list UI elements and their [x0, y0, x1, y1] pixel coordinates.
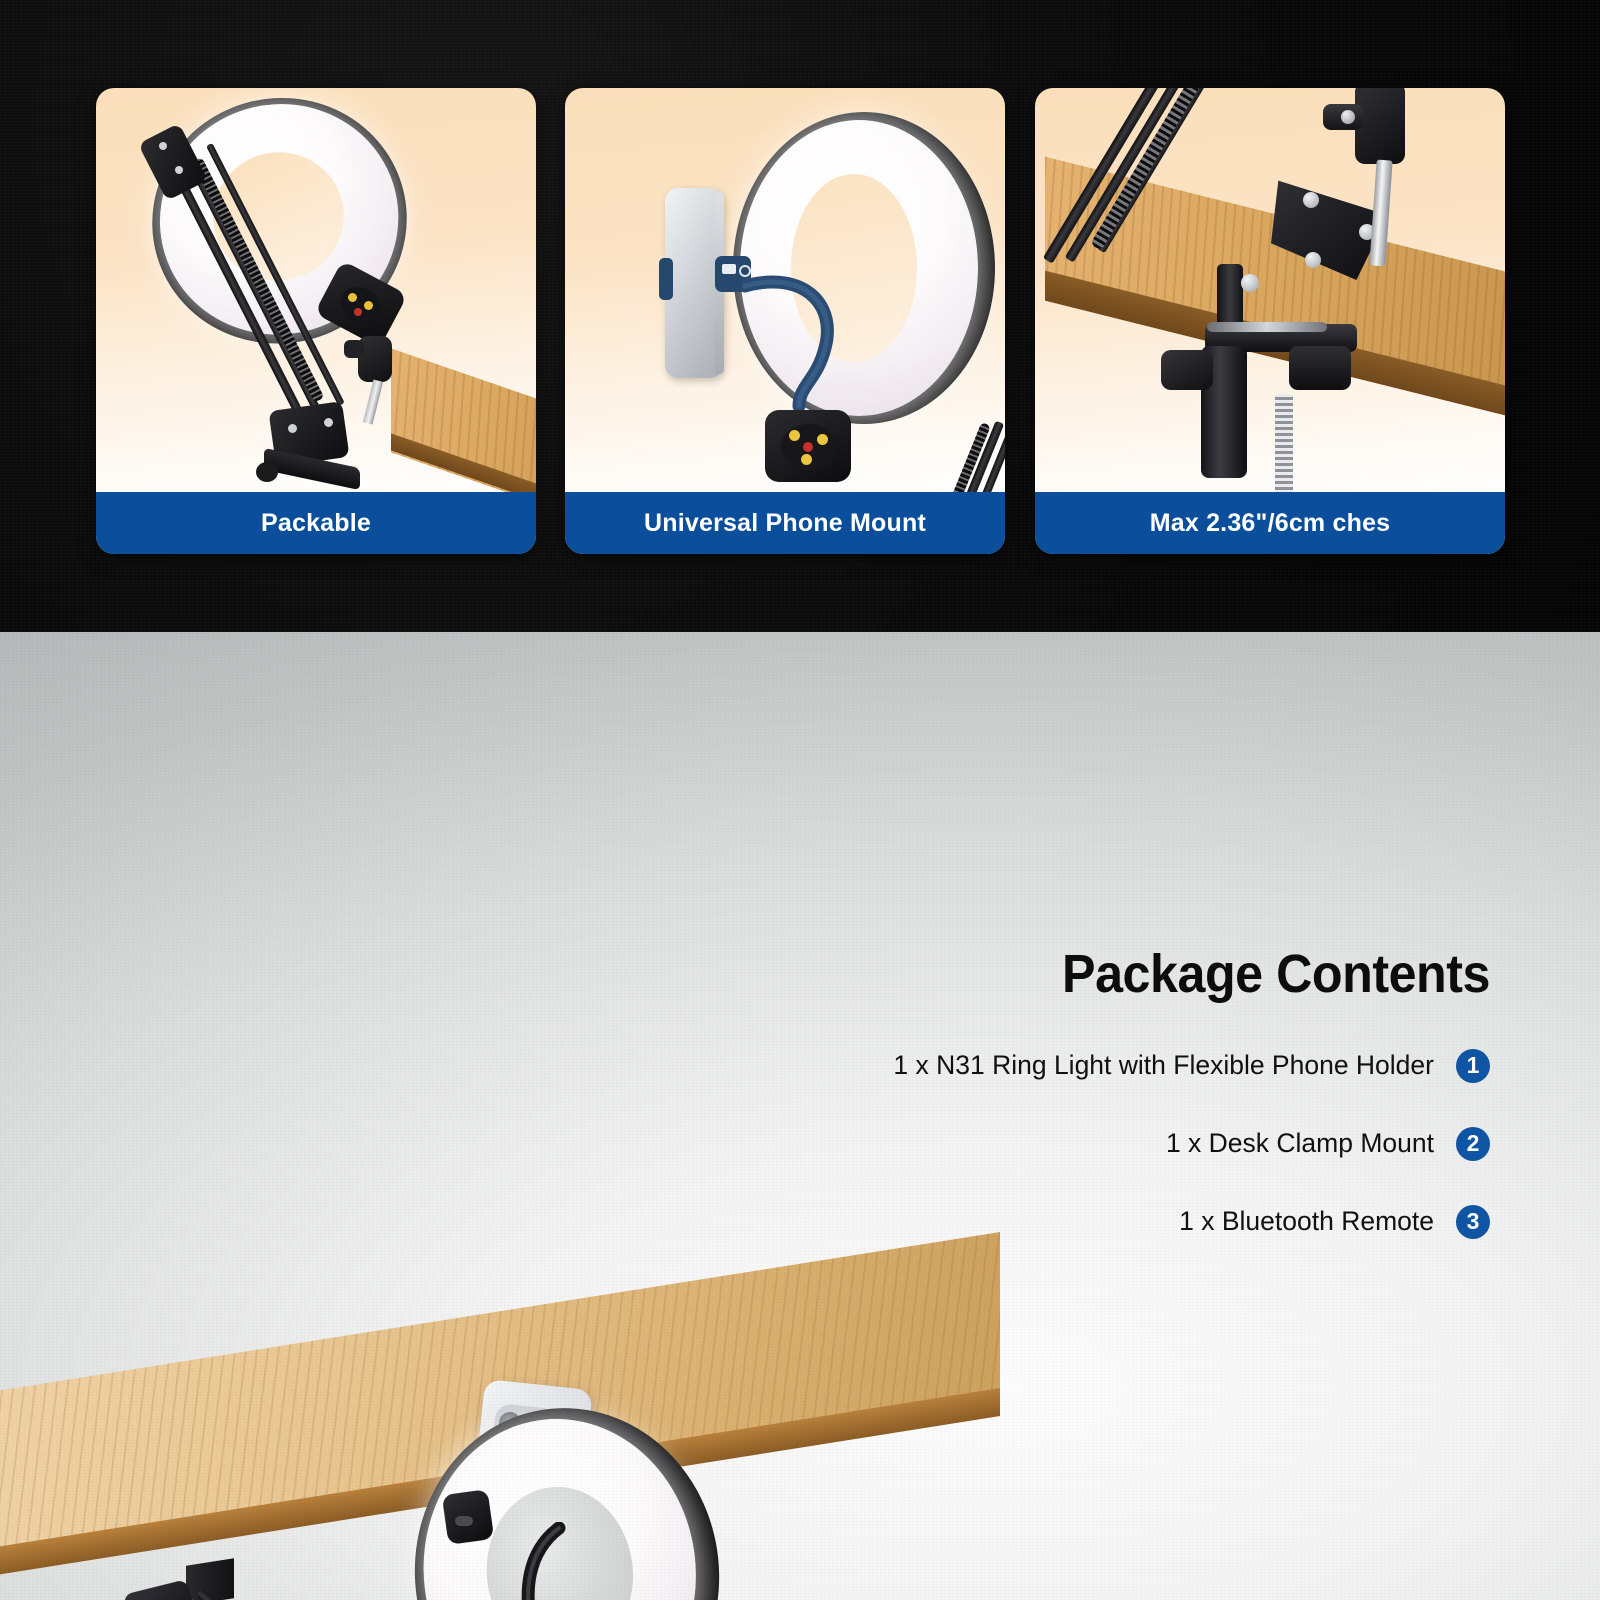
phone-mount-illustration [565, 88, 1005, 492]
feature-panel-list: Packable [0, 0, 1600, 632]
package-contents-section: 1 2 3 Package Contents 1 x N31 Ring Ligh… [0, 632, 1600, 1600]
feature-caption-clamp-size: Max 2.36"/6cm ches [1035, 492, 1505, 554]
list-item-badge: 3 [1456, 1205, 1490, 1239]
list-item-badge: 1 [1456, 1049, 1490, 1083]
list-item: 1 x Desk Clamp Mount 2 [810, 1127, 1490, 1161]
feature-caption-packable: Packable [96, 492, 536, 554]
feature-panel-clamp-size[interactable]: Max 2.36"/6cm ches [1035, 88, 1505, 554]
gooseneck-icon [741, 274, 871, 414]
feature-panel-phone-mount[interactable]: Universal Phone Mount [565, 88, 1005, 554]
feature-panel-packable[interactable]: Packable [96, 88, 536, 554]
packable-illustration [96, 88, 536, 492]
package-contents-list: 1 x N31 Ring Light with Flexible Phone H… [810, 1049, 1490, 1239]
list-item-label: 1 x Desk Clamp Mount [1166, 1128, 1434, 1159]
desk-clamp-illustration [1035, 88, 1505, 492]
gooseneck-icon [503, 1522, 583, 1600]
ring-light [395, 1372, 735, 1600]
list-item-label: 1 x N31 Ring Light with Flexible Phone H… [893, 1050, 1434, 1081]
package-contents-block: Package Contents 1 x N31 Ring Light with… [810, 946, 1490, 1283]
list-item-label: 1 x Bluetooth Remote [1179, 1206, 1434, 1237]
feature-caption-phone-mount: Universal Phone Mount [565, 492, 1005, 554]
product-marketing-page: Packable [0, 0, 1600, 1600]
list-item: 1 x N31 Ring Light with Flexible Phone H… [810, 1049, 1490, 1083]
list-item-badge: 2 [1456, 1127, 1490, 1161]
list-item: 1 x Bluetooth Remote 3 [810, 1205, 1490, 1239]
page-title: Package Contents [858, 946, 1490, 1003]
